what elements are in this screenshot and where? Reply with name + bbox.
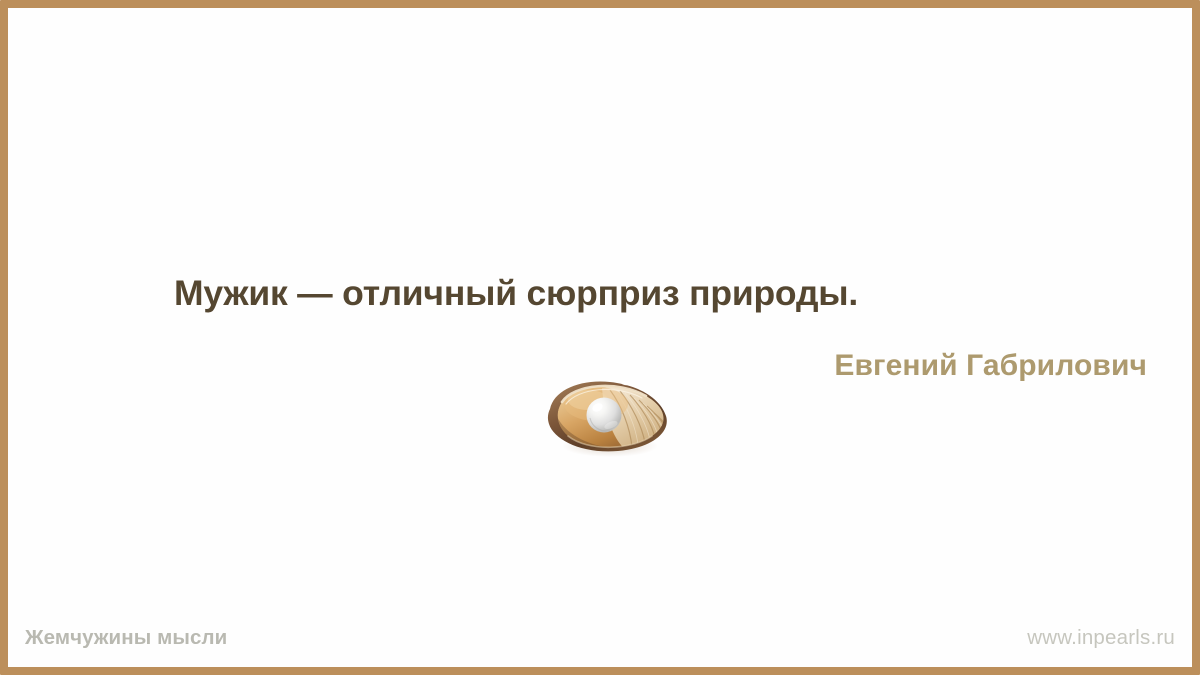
quote-card: Мужик — отличный сюрприз природы. Евгени… <box>0 0 1200 675</box>
quote-author[interactable]: Евгений Габрилович <box>834 348 1147 384</box>
footer: Жемчужины мысли www.inpearls.ru <box>8 623 1192 653</box>
quote-text: Мужик — отличный сюрприз природы. <box>174 272 1054 314</box>
card-inner: Мужик — отличный сюрприз природы. Евгени… <box>8 8 1192 667</box>
site-url-link[interactable]: www.inpearls.ru <box>1027 626 1175 650</box>
oyster-shell-with-pearl-icon <box>540 374 676 458</box>
site-name: Жемчужины мысли <box>25 626 227 650</box>
